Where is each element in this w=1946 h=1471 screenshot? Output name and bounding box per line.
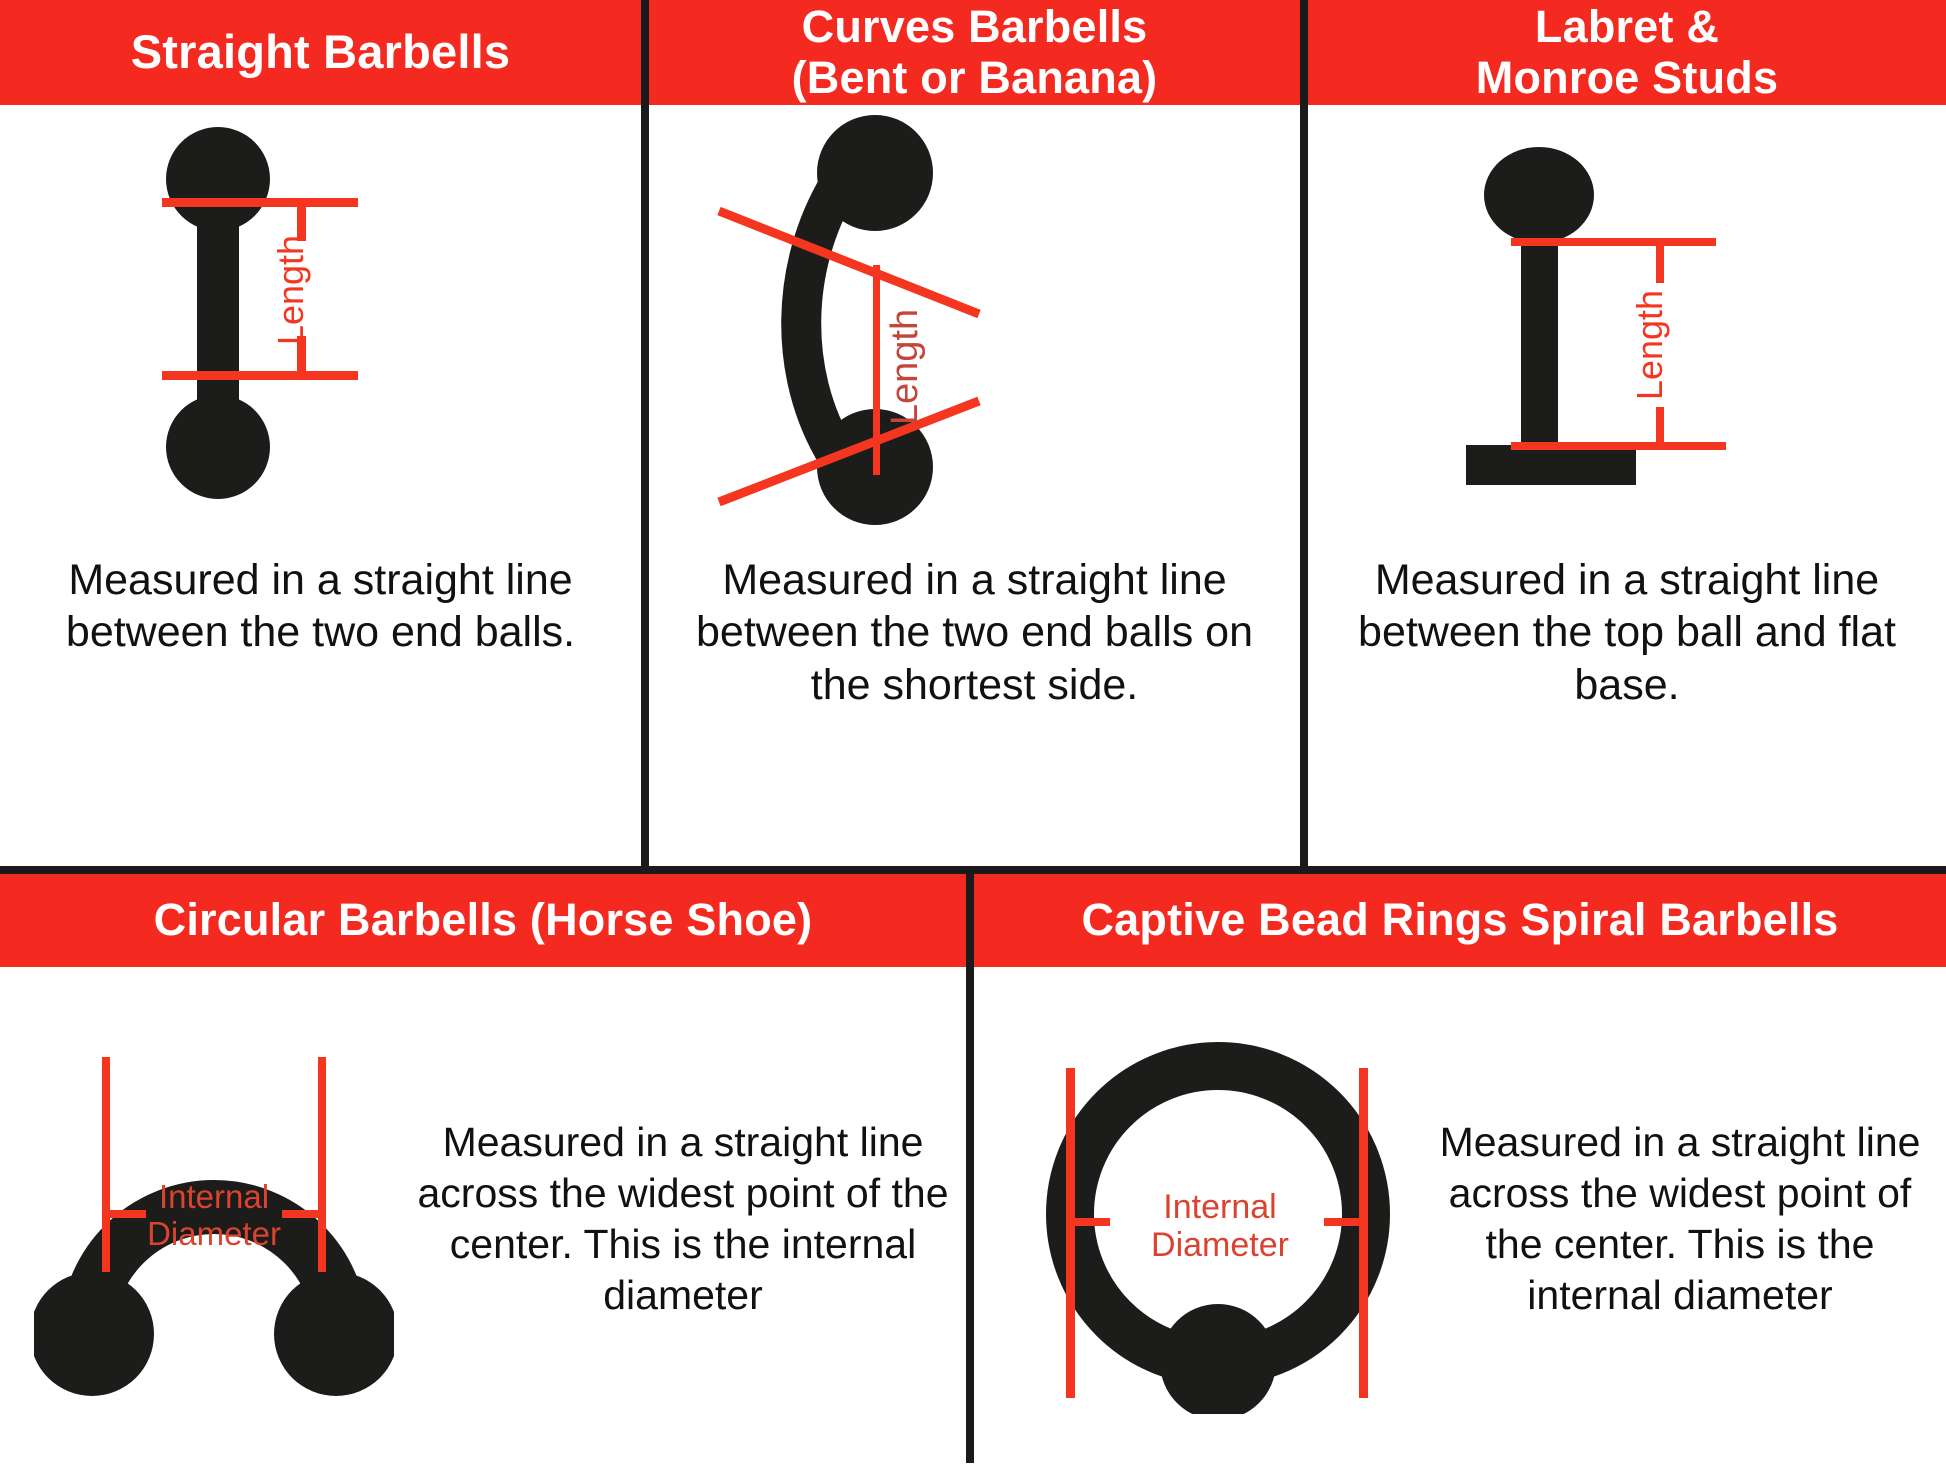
diagram-labret-stud: Length — [1308, 105, 1946, 550]
barbell-top-ball — [817, 115, 933, 231]
measure-tick-left — [102, 1210, 146, 1218]
diagram-curved-barbell: Length — [649, 105, 1300, 550]
card-labret-monroe-studs: Labret & Monroe Studs — [1308, 0, 1946, 866]
measure-line-top — [162, 198, 358, 207]
measure-line-bottom — [1511, 442, 1726, 450]
straight-barbell-illustration: Length — [140, 105, 500, 550]
measure-tick-bottom — [1656, 407, 1664, 450]
measure-label-length: Length — [270, 235, 311, 345]
piercing-measurement-infographic: Straight Barbells — [0, 0, 1946, 1463]
measure-tick-right — [282, 1210, 326, 1218]
barbell-top-ball — [166, 127, 270, 231]
measure-line-right — [318, 1057, 326, 1272]
labret-stud-illustration: Length — [1458, 115, 1838, 545]
measure-line-right — [1359, 1068, 1368, 1398]
infographic-row-bottom: Circular Barbells (Horse Shoe) — [0, 874, 1946, 1471]
measure-tick-left — [1066, 1218, 1110, 1226]
card-body-labret-monroe-studs: Length Measured in a straight line betwe… — [1308, 105, 1946, 866]
horseshoe-illustration: Internal Diameter — [34, 1034, 394, 1404]
measure-label-length: Length — [1629, 290, 1670, 400]
card-curved-barbells: Curves Barbells (Bent or Banana) — [649, 0, 1300, 866]
card-title-labret-monroe-studs: Labret & Monroe Studs — [1308, 0, 1946, 105]
infographic-row-top: Straight Barbells — [0, 0, 1946, 866]
horseshoe-right-ball — [274, 1272, 394, 1396]
measure-tick-top — [1656, 238, 1664, 283]
card-title-curved-barbells: Curves Barbells (Bent or Banana) — [649, 0, 1300, 105]
card-caption-captive-bead-rings: Measured in a straight line across the w… — [1414, 1117, 1946, 1320]
measure-label-diameter: Diameter — [147, 1215, 281, 1252]
card-title-straight-barbells: Straight Barbells — [0, 0, 641, 105]
measure-tick-right — [1324, 1218, 1368, 1226]
measure-connector-vertical — [873, 265, 880, 475]
card-body-circular-barbells: Internal Diameter Measured in a straight… — [0, 967, 966, 1471]
card-title-line-2: (Bent or Banana) — [792, 53, 1158, 103]
measure-label-length: Length — [884, 309, 926, 425]
card-caption-circular-barbells: Measured in a straight line across the w… — [400, 1117, 966, 1320]
card-title-circular-barbells: Circular Barbells (Horse Shoe) — [0, 874, 966, 967]
cbr-captive-bead — [1160, 1304, 1276, 1414]
labret-top-ball — [1484, 147, 1594, 243]
curved-barbell-illustration: Length — [679, 105, 1099, 550]
measure-line-bottom — [162, 371, 358, 380]
diagram-straight-barbell: Length — [0, 105, 641, 550]
measure-label-internal: Internal — [159, 1178, 269, 1215]
card-caption-labret-monroe-studs: Measured in a straight line between the … — [1308, 554, 1946, 711]
card-title-line-1: Labret & — [1476, 2, 1778, 52]
diagram-captive-bead-ring: Internal Diameter — [974, 1024, 1414, 1414]
card-title-captive-bead-rings: Captive Bead Rings Spiral Barbells — [974, 874, 1946, 967]
card-caption-curved-barbells: Measured in a straight line between the … — [649, 554, 1300, 711]
card-body-curved-barbells: Length Measured in a straight line betwe… — [649, 105, 1300, 866]
barbell-curved-shaft — [801, 185, 839, 455]
card-body-captive-bead-rings: Internal Diameter Measured in a straight… — [974, 967, 1946, 1471]
measure-line-left — [102, 1057, 110, 1272]
horseshoe-left-ball — [34, 1272, 154, 1396]
measure-label-internal: Internal — [1163, 1188, 1276, 1226]
card-body-straight-barbells: Length Measured in a straight line betwe… — [0, 105, 641, 866]
diagram-circular-barbell: Internal Diameter — [0, 1034, 400, 1404]
captive-bead-ring-illustration: Internal Diameter — [1028, 1024, 1408, 1414]
labret-flat-base — [1466, 445, 1636, 485]
card-title-line-2: Monroe Studs — [1476, 53, 1778, 103]
measure-label-diameter: Diameter — [1151, 1226, 1289, 1264]
card-straight-barbells: Straight Barbells — [0, 0, 641, 866]
card-circular-barbells: Circular Barbells (Horse Shoe) — [0, 874, 966, 1471]
measure-tick-top — [297, 198, 306, 241]
card-title-line-1: Curves Barbells — [792, 2, 1158, 52]
measure-line-left — [1066, 1068, 1075, 1398]
barbell-bottom-ball — [166, 395, 270, 499]
card-caption-straight-barbells: Measured in a straight line between the … — [0, 554, 641, 659]
labret-post — [1521, 225, 1558, 447]
card-captive-bead-rings: Captive Bead Rings Spiral Barbells — [974, 874, 1946, 1471]
measure-line-top — [1511, 238, 1716, 246]
measure-line-top-angled — [719, 211, 979, 314]
